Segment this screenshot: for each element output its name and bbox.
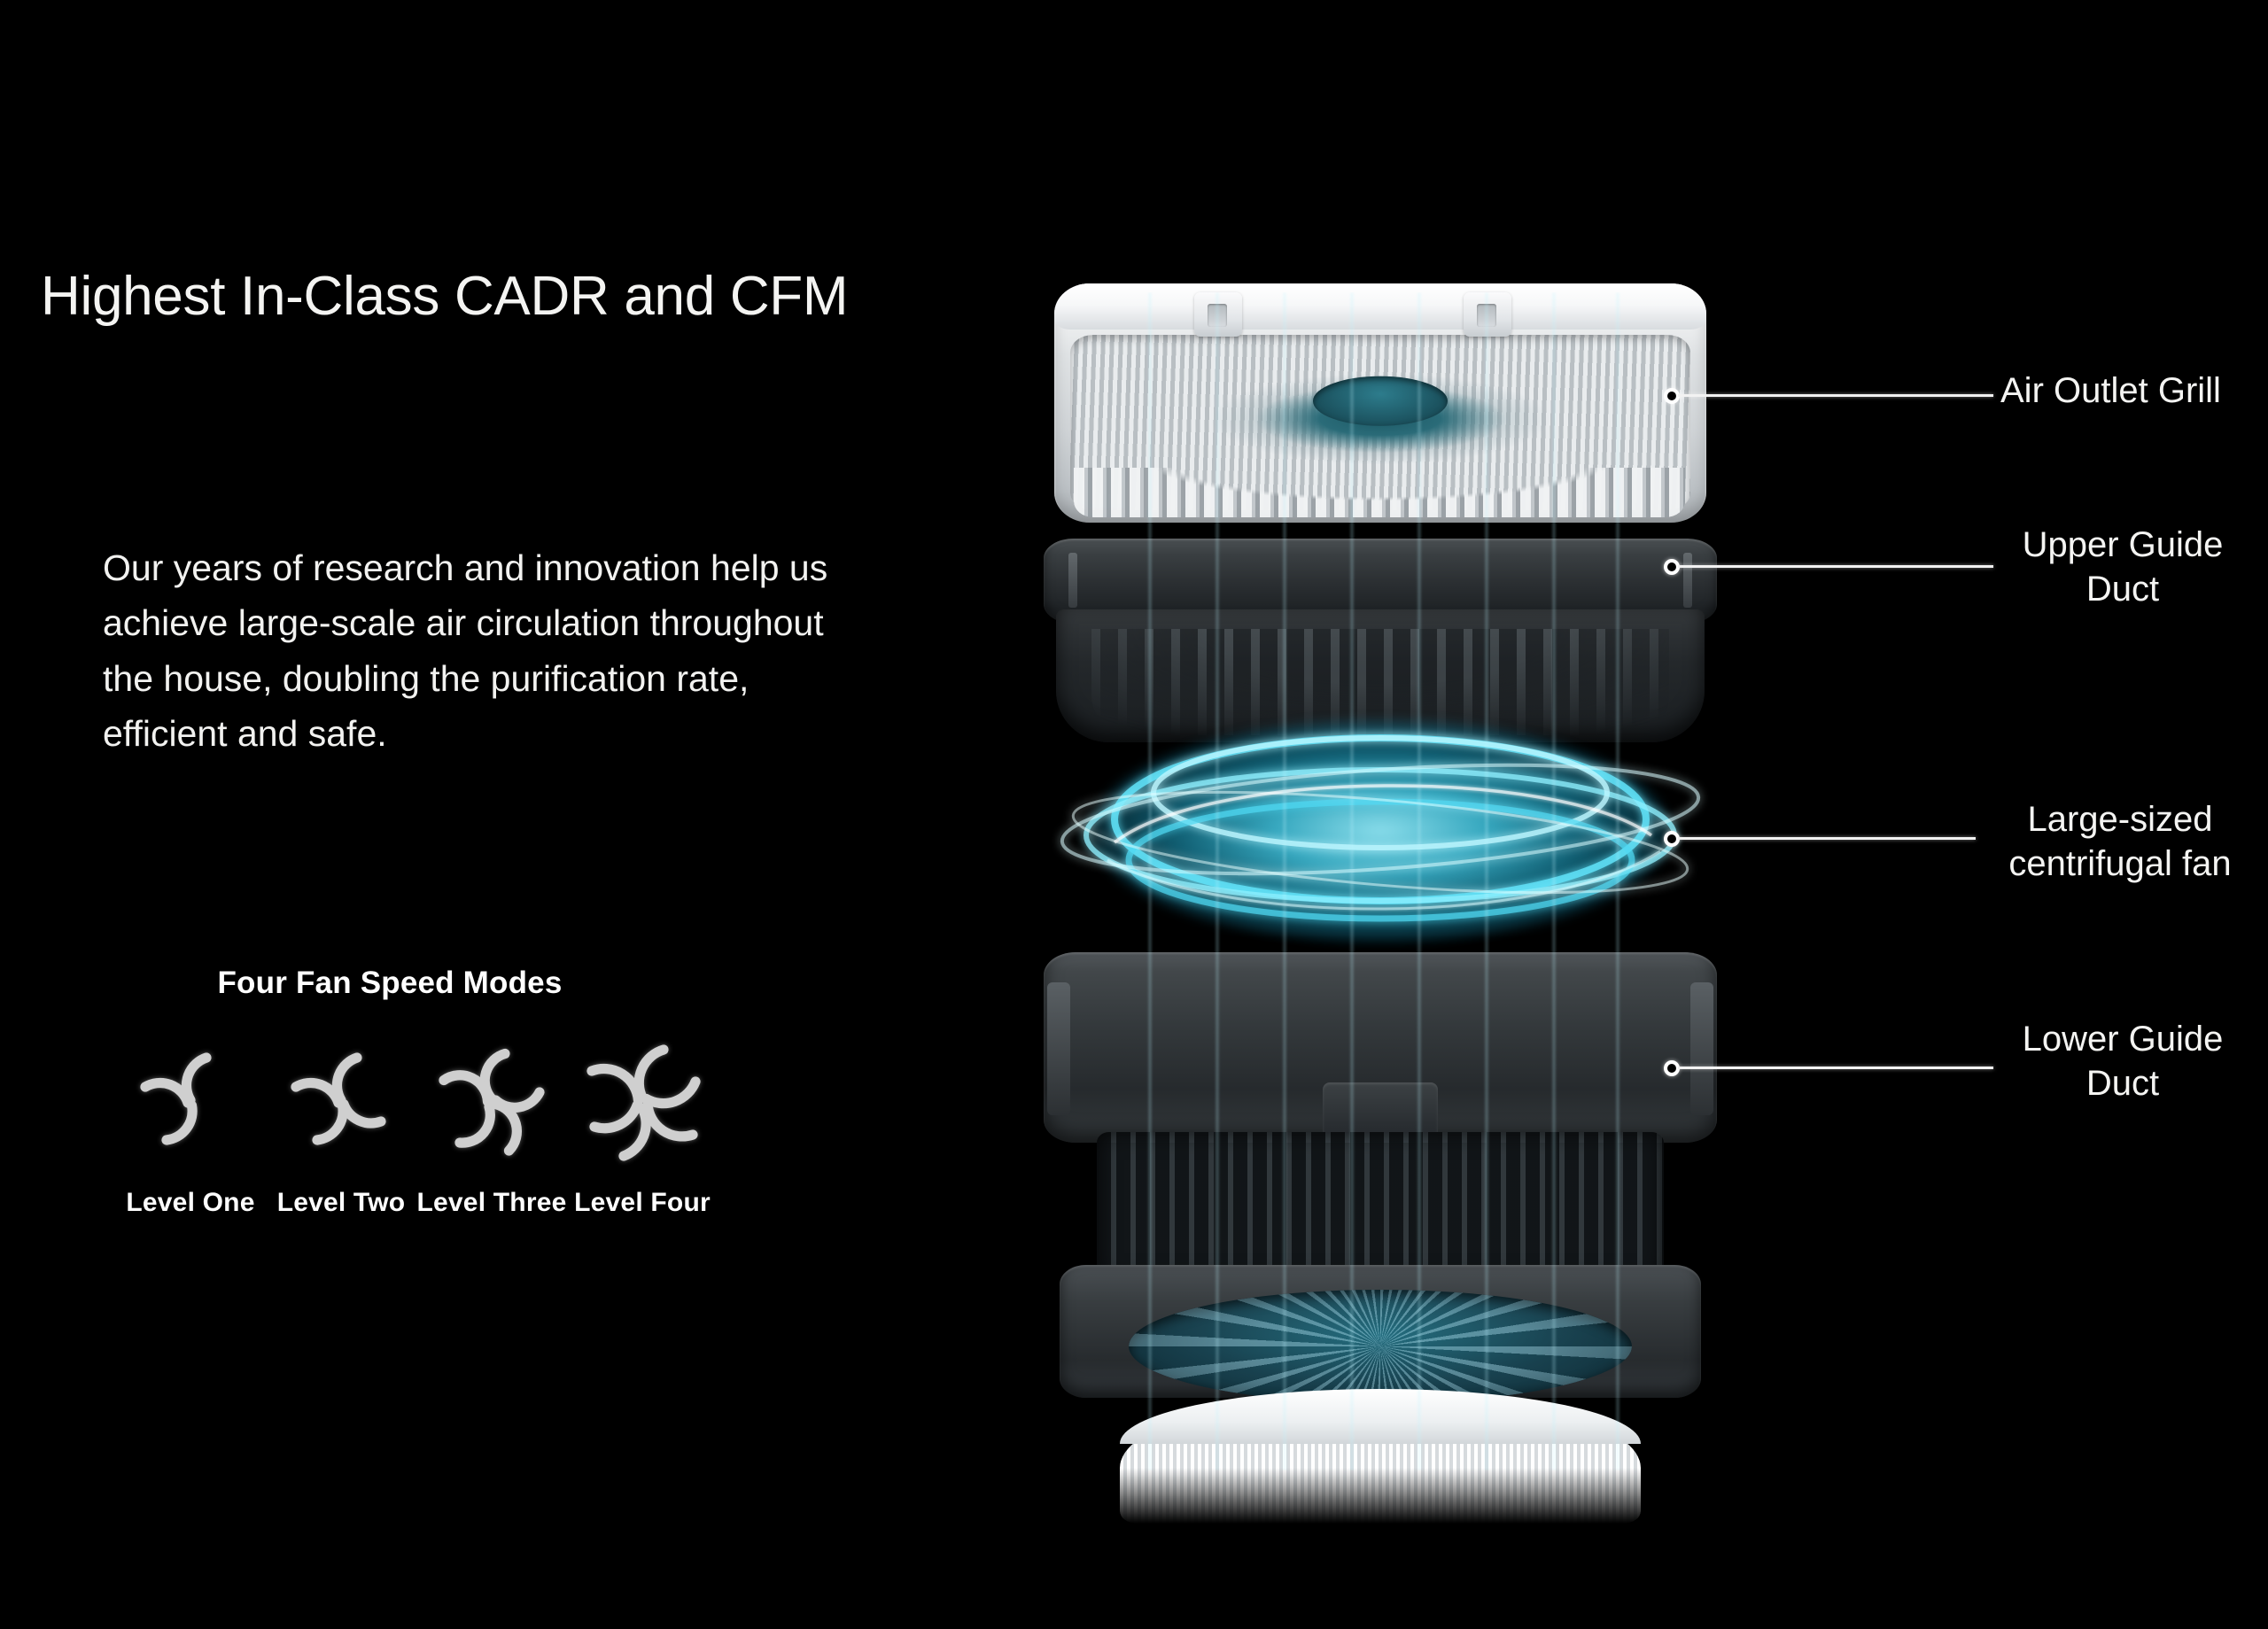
lower-duct-ear-left — [1047, 982, 1070, 1115]
callout-label: Air Outlet Grill — [2000, 368, 2266, 413]
air-outlet-grill-part — [1054, 283, 1706, 523]
lower-duct-ear-right — [1690, 982, 1713, 1115]
fan-speed-3-icon — [425, 1036, 558, 1169]
callout-leader-line — [1678, 565, 1993, 568]
lower-impeller-ring — [1129, 1290, 1632, 1403]
fan-speed-level-four-label: Level Four — [574, 1185, 711, 1221]
lower-duct-throat — [1097, 1132, 1664, 1281]
fan-speed-4-icon — [576, 1036, 709, 1169]
callout-leader-line — [1678, 837, 1976, 840]
grill-hub — [1313, 376, 1448, 426]
callout-leader-line — [1678, 1067, 1993, 1069]
grill-teeth — [1074, 468, 1685, 517]
fan-speed-level-three-label: Level Three — [417, 1185, 567, 1221]
fan-speed-1-icon — [124, 1036, 257, 1169]
fan-speed-modes-section: Four Fan Speed Modes Level One Level Two — [106, 966, 780, 1221]
callout-leader-line — [1678, 394, 1993, 397]
body-paragraph: Our years of research and innovation hel… — [103, 540, 882, 761]
callout-label: Lower Guide Duct — [1988, 1017, 2257, 1106]
fan-speed-modes-title: Four Fan Speed Modes — [142, 966, 638, 1001]
grill-clip-right — [1464, 292, 1511, 337]
fan-speed-2-icon — [275, 1036, 408, 1169]
callout-label: Upper Guide Duct — [1988, 523, 2257, 612]
fan-speed-level-row: Level One Level Two — [115, 1036, 718, 1221]
fan-speed-level-two-label: Level Two — [277, 1185, 406, 1221]
grill-rim — [1054, 283, 1706, 330]
fan-speed-level-three[interactable]: Level Three — [416, 1036, 567, 1221]
callout-label: Large-sized centrifugal fan — [1979, 797, 2261, 887]
slide-canvas: Highest In-Class CADR and CFM Our years … — [0, 0, 2268, 1629]
fan-speed-level-one[interactable]: Level One — [115, 1036, 266, 1221]
air-purifier-exploded-view — [1044, 283, 1717, 1524]
upper-duct-vanes — [1091, 629, 1669, 735]
grill-clip-left — [1194, 292, 1242, 337]
fan-halo — [1092, 720, 1668, 942]
page-title: Highest In-Class CADR and CFM — [41, 268, 980, 327]
fan-speed-level-one-label: Level One — [126, 1185, 254, 1221]
upper-guide-duct-interior — [1056, 609, 1705, 742]
fan-speed-level-two[interactable]: Level Two — [266, 1036, 416, 1221]
fan-speed-level-four[interactable]: Level Four — [567, 1036, 718, 1221]
lower-guide-duct-part — [1044, 952, 1717, 1143]
